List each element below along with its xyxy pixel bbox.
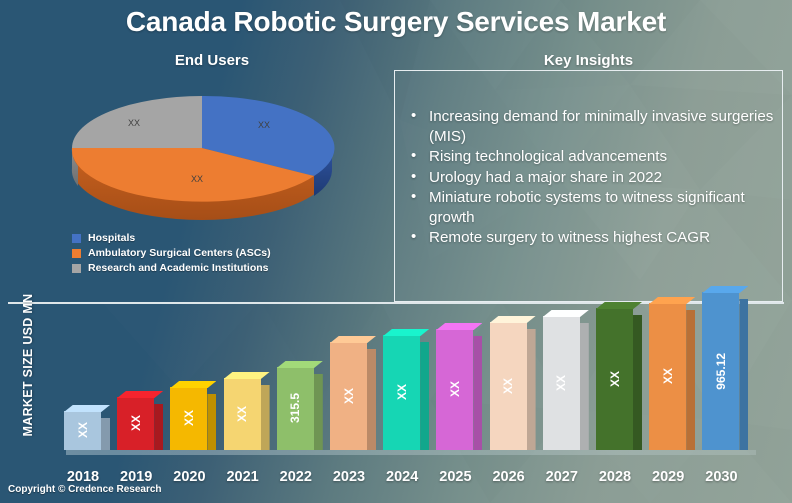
legend-swatch-ascs bbox=[72, 249, 81, 258]
bar-2022: 315.5 bbox=[277, 367, 314, 450]
bar-value-container: 965.12 bbox=[702, 292, 739, 450]
bar-2029: XX bbox=[649, 303, 686, 450]
bar-side-face bbox=[420, 342, 429, 450]
bar-value-container: XX bbox=[596, 308, 633, 450]
bar-2021: XX bbox=[224, 378, 261, 450]
bar-value-label: XX bbox=[661, 368, 675, 384]
bar-side-face bbox=[580, 323, 589, 450]
bar-side-face bbox=[367, 349, 376, 450]
key-insight-item: Miniature robotic systems to witness sig… bbox=[407, 188, 777, 227]
legend-label-hospitals: Hospitals bbox=[88, 232, 135, 244]
bar-value-label: XX bbox=[608, 371, 622, 387]
legend-swatch-hospitals bbox=[72, 234, 81, 243]
copyright-text: Copyright © Credence Research bbox=[8, 484, 162, 495]
x-axis-label-2022: 2022 bbox=[271, 469, 321, 485]
bar-2019: XX bbox=[117, 397, 154, 450]
bar-value-label: XX bbox=[235, 406, 249, 422]
bar-value-container: XX bbox=[224, 378, 261, 450]
x-axis-label-2019: 2019 bbox=[111, 469, 161, 485]
bar-side-face bbox=[207, 394, 216, 450]
infographic-root: Canada Robotic Surgery Services Market E… bbox=[0, 0, 792, 503]
pie-label-ascs: XX bbox=[191, 174, 203, 184]
bar-side-face bbox=[261, 385, 270, 450]
bar-side-face bbox=[739, 299, 748, 450]
bar-2024: XX bbox=[383, 335, 420, 450]
bar-chart-plot-area: XXXXXXXX315.5XXXXXXXXXXXXXX965.12 bbox=[58, 306, 778, 466]
bar-value-label: 315.5 bbox=[288, 393, 302, 423]
x-axis-label-2020: 2020 bbox=[164, 469, 214, 485]
key-insights-panel: Increasing demand for minimally invasive… bbox=[394, 70, 783, 302]
legend-item-ascs: Ambulatory Surgical Centers (ASCs) bbox=[72, 247, 372, 259]
bar-side-face bbox=[527, 329, 536, 450]
bar-2018: XX bbox=[64, 411, 101, 450]
x-axis-label-2024: 2024 bbox=[377, 469, 427, 485]
bar-2020: XX bbox=[170, 387, 207, 450]
pie-label-hospitals: XX bbox=[258, 120, 270, 130]
market-size-bar-chart: MARKET SIZE USD MN XXXXXXXX315.5XXXXXXXX… bbox=[0, 306, 792, 503]
end-users-pie-chart: XX XX XX bbox=[52, 78, 352, 218]
bar-value-label: XX bbox=[501, 378, 515, 394]
legend-swatch-research bbox=[72, 264, 81, 273]
bar-value-container: XX bbox=[330, 342, 367, 450]
bar-value-container: XX bbox=[64, 411, 101, 450]
x-axis-label-2025: 2025 bbox=[430, 469, 480, 485]
bar-value-label: XX bbox=[554, 375, 568, 391]
pie-legend: Hospitals Ambulatory Surgical Centers (A… bbox=[72, 232, 372, 277]
bar-value-label: XX bbox=[76, 422, 90, 438]
bar-2023: XX bbox=[330, 342, 367, 450]
key-insights-list: Increasing demand for minimally invasive… bbox=[407, 107, 777, 249]
bar-value-label: XX bbox=[395, 384, 409, 400]
bar-value-label: XX bbox=[129, 415, 143, 431]
bar-value-label: XX bbox=[182, 410, 196, 426]
x-axis-label-2018: 2018 bbox=[58, 469, 108, 485]
pie-label-research: XX bbox=[128, 118, 140, 128]
x-axis-label-2029: 2029 bbox=[643, 469, 693, 485]
bar-side-face bbox=[101, 418, 110, 450]
bar-value-container: XX bbox=[490, 322, 527, 450]
bar-chart-floor bbox=[66, 450, 756, 455]
key-insight-item: Increasing demand for minimally invasive… bbox=[407, 107, 777, 146]
bar-2030: 965.12 bbox=[702, 292, 739, 450]
bar-2025: XX bbox=[436, 329, 473, 450]
bar-value-container: XX bbox=[543, 316, 580, 450]
bar-side-face bbox=[633, 315, 642, 450]
x-axis-label-2023: 2023 bbox=[324, 469, 374, 485]
end-users-section-title: End Users bbox=[62, 52, 362, 69]
bar-value-container: XX bbox=[649, 303, 686, 450]
x-axis-label-2026: 2026 bbox=[484, 469, 534, 485]
bar-value-label: XX bbox=[448, 381, 462, 397]
legend-label-research: Research and Academic Institutions bbox=[88, 262, 269, 274]
pie-chart-svg: XX XX XX bbox=[52, 78, 352, 228]
bar-value-container: 315.5 bbox=[277, 367, 314, 450]
bar-chart-x-axis-labels: 2018201920202021202220232024202520262027… bbox=[58, 469, 778, 491]
legend-item-hospitals: Hospitals bbox=[72, 232, 372, 244]
key-insight-item: Remote surgery to witness highest CAGR bbox=[407, 228, 777, 248]
key-insight-item: Rising technological advancements bbox=[407, 147, 777, 167]
bar-side-face bbox=[154, 404, 163, 450]
x-axis-label-2021: 2021 bbox=[218, 469, 268, 485]
key-insights-section-title: Key Insights bbox=[394, 52, 783, 69]
bar-side-face bbox=[473, 336, 482, 450]
bar-value-label: XX bbox=[342, 388, 356, 404]
bar-value-container: XX bbox=[436, 329, 473, 450]
bar-chart-y-axis-label: MARKET SIZE USD MN bbox=[21, 285, 35, 445]
x-axis-label-2027: 2027 bbox=[537, 469, 587, 485]
bar-value-container: XX bbox=[117, 397, 154, 450]
legend-item-research: Research and Academic Institutions bbox=[72, 262, 372, 274]
bar-2026: XX bbox=[490, 322, 527, 450]
bar-value-container: XX bbox=[170, 387, 207, 450]
bar-side-face bbox=[686, 310, 695, 450]
page-title: Canada Robotic Surgery Services Market bbox=[0, 6, 792, 38]
bar-side-face bbox=[314, 374, 323, 450]
bar-value-container: XX bbox=[383, 335, 420, 450]
x-axis-label-2028: 2028 bbox=[590, 469, 640, 485]
legend-label-ascs: Ambulatory Surgical Centers (ASCs) bbox=[88, 247, 271, 259]
x-axis-label-2030: 2030 bbox=[696, 469, 746, 485]
bar-2027: XX bbox=[543, 316, 580, 450]
bar-2028: XX bbox=[596, 308, 633, 450]
key-insight-item: Urology had a major share in 2022 bbox=[407, 168, 777, 188]
bar-value-label: 965.12 bbox=[714, 353, 728, 390]
